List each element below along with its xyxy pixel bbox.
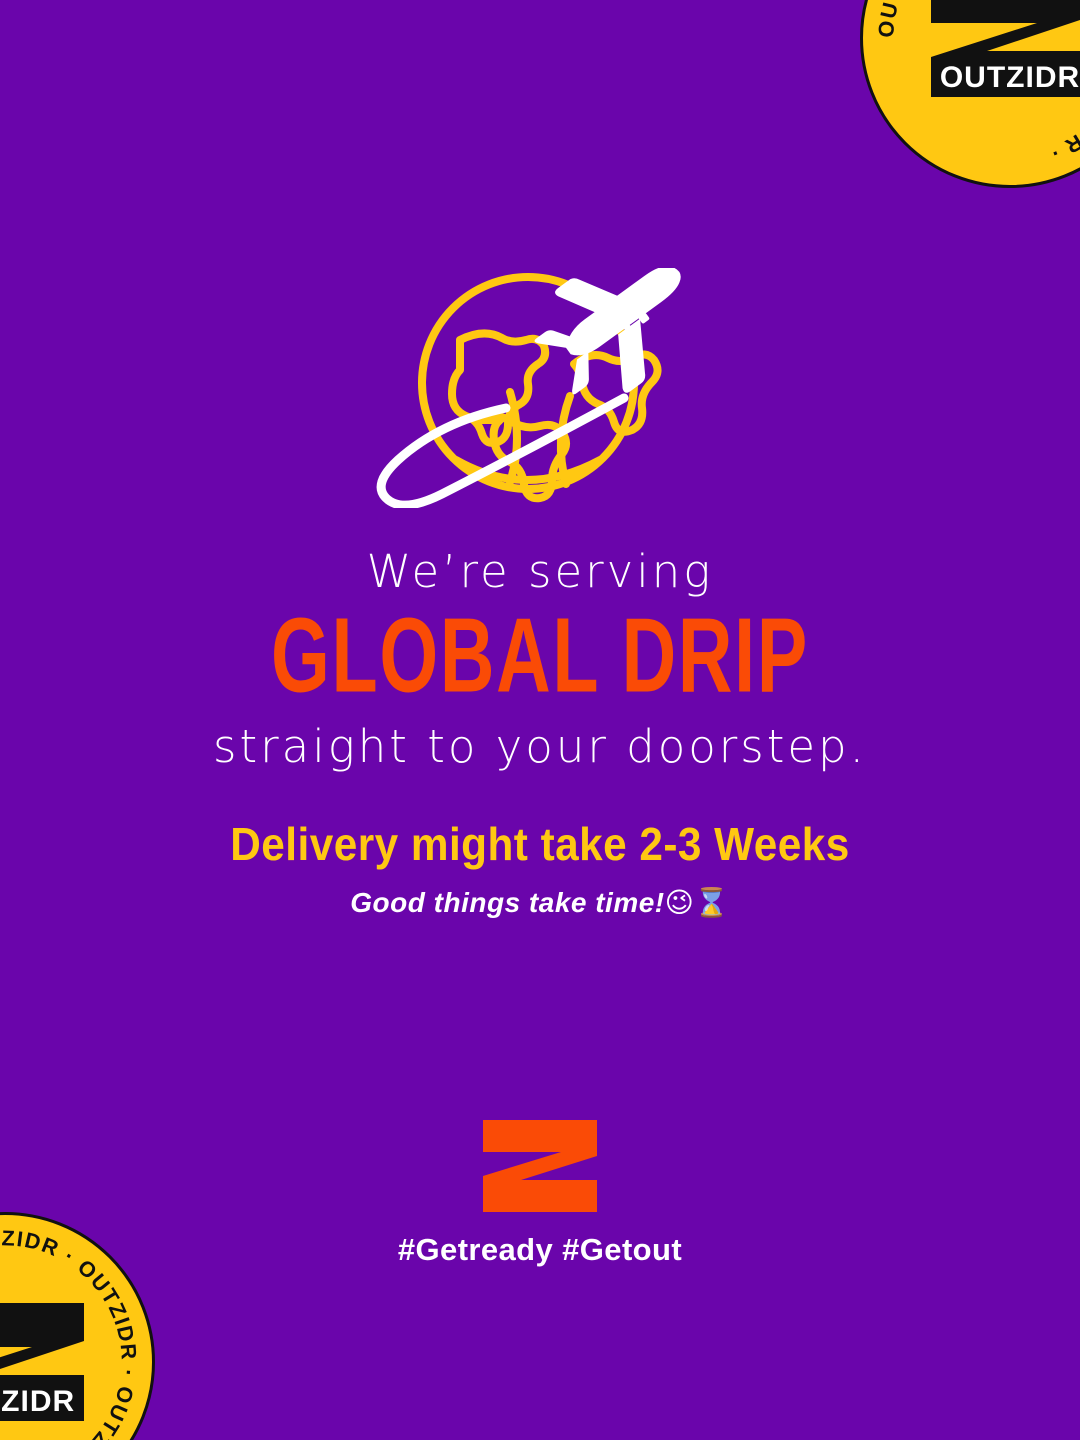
- reassurance-line: Good things take time!😉⌛: [0, 886, 1080, 919]
- wink-hourglass-emoji: 😉⌛: [665, 886, 730, 919]
- stamp-core-wordmark: OUTZIDR: [0, 1385, 75, 1418]
- outzidr-stamp-top-right: OUTZIDR · OUTZIDR · OUTZIDR · OUTZIDR · …: [860, 0, 1080, 188]
- outzidr-z-logo-icon: [477, 1118, 603, 1214]
- headline-copy-block: We’re serving GLOBAL DRIP straight to yo…: [0, 548, 1080, 771]
- delivery-time-text: Delivery might take 2-3 Weeks: [43, 820, 1037, 870]
- subline-text: straight to your doorstep.: [0, 723, 1080, 770]
- stamp-core-logo-bottom-left: OUTZIDR: [0, 1301, 90, 1423]
- hashtags-text: #Getready #Getout: [0, 1232, 1080, 1268]
- eyebrow-text: We’re serving: [0, 548, 1080, 595]
- headline-global-drip: GLOBAL DRIP: [86, 603, 993, 709]
- globe-airplane-illustration: [360, 268, 720, 508]
- stamp-core-wordmark: OUTZIDR: [940, 61, 1080, 94]
- delivery-notice-block: Delivery might take 2-3 Weeks Good thing…: [0, 820, 1080, 919]
- footer-branding: #Getready #Getout: [0, 1118, 1080, 1268]
- reassurance-text: Good things take time!: [350, 887, 664, 918]
- stamp-core-logo-top-right: OUTZIDR: [925, 0, 1080, 99]
- poster-canvas: We’re serving GLOBAL DRIP straight to yo…: [0, 0, 1080, 1440]
- outzidr-stamp-bottom-left: OUTZIDR · OUTZIDR · OUTZIDR · OUTZIDR · …: [0, 1212, 155, 1440]
